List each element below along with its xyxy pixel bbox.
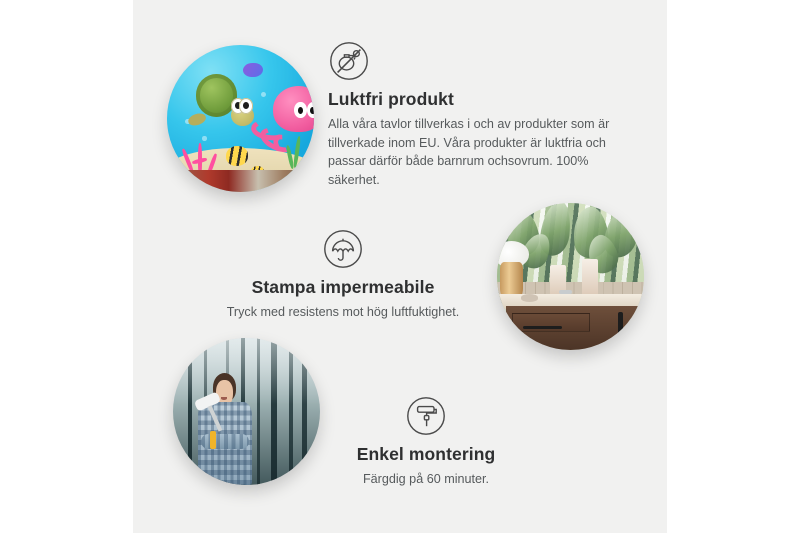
feature-description: Alla våra tavlor tillverkas i och av pro… (328, 115, 618, 189)
towel (582, 259, 598, 297)
turtle-icon (191, 74, 256, 127)
feature-title: Luktfri produkt (328, 89, 618, 110)
underwater-scene (167, 45, 314, 192)
feature-description: Färgdig på 60 minuter. (336, 470, 516, 489)
soap-dish (521, 294, 539, 301)
feature-title: Enkel montering (336, 444, 516, 465)
feature-title: Stampa impermeabile (193, 277, 493, 298)
forest-scene (173, 338, 320, 485)
paint-roller-icon (405, 395, 447, 437)
foreground-strip (167, 170, 314, 192)
bathroom-scene (497, 203, 644, 350)
umbrella-icon (322, 228, 364, 270)
feature-text-easy-install: Enkel montering Färgdig på 60 minuter. (336, 395, 516, 489)
feature-text-waterproof: Stampa impermeabile Tryck med resistens … (193, 228, 493, 322)
content-panel: Luktfri produkt Alla våra tavlor tillver… (133, 0, 667, 533)
vanity-cabinet (506, 306, 644, 350)
forest-installer-circle-image (173, 338, 320, 485)
no-smell-perfume-icon (328, 40, 618, 82)
person-with-roller (194, 373, 268, 485)
yellow-fish-icon (226, 146, 248, 165)
feature-description: Tryck med resistens mot hög luftfuktighe… (193, 303, 493, 322)
feature-text-odorless: Luktfri produkt Alla våra tavlor tillver… (328, 40, 618, 189)
product-feature-banner: Luktfri produkt Alla våra tavlor tillver… (0, 0, 800, 533)
underwater-cartoon-circle-image (167, 45, 314, 192)
bathroom-wallpaper-circle-image (497, 203, 644, 350)
